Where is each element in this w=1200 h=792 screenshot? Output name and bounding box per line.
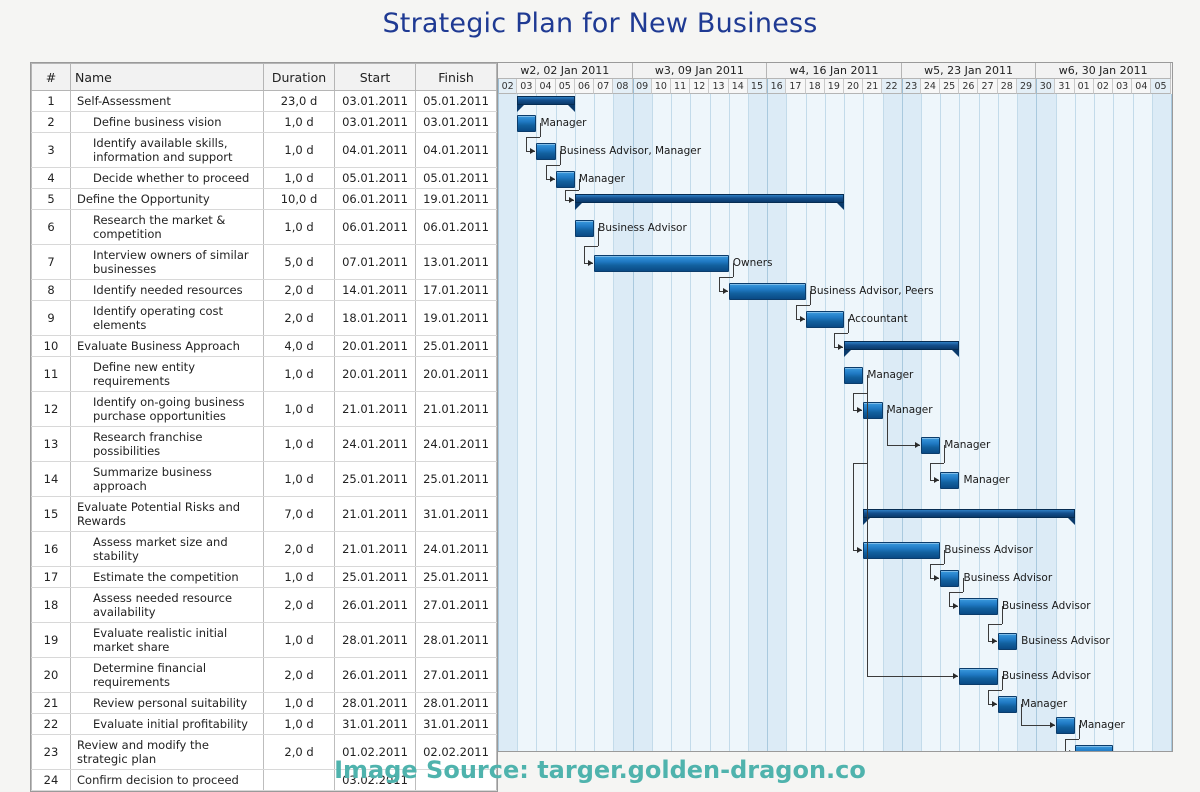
dependency-link xyxy=(526,137,540,138)
gantt-task-bar[interactable] xyxy=(575,220,594,237)
dependency-link xyxy=(949,592,963,593)
dependency-arrow-icon xyxy=(934,477,939,483)
row-number: 6 xyxy=(32,210,71,245)
summary-cap-left-icon xyxy=(844,350,851,357)
table-row[interactable]: 6Research the market & competition1,0 d0… xyxy=(32,210,497,245)
row-name: Decide whether to proceed xyxy=(71,168,264,189)
row-name: Review personal suitability xyxy=(71,693,264,714)
weekend-band xyxy=(1152,94,1171,752)
column-header-finish[interactable]: Finish xyxy=(416,64,497,91)
task-resource-label: Manager xyxy=(579,173,625,185)
dependency-link xyxy=(949,592,950,606)
week-header-cell: w3, 09 Jan 2011 xyxy=(633,63,768,79)
dependency-arrow-icon xyxy=(550,176,555,182)
row-start: 25.01.2011 xyxy=(335,567,416,588)
timeline-gridline xyxy=(1056,94,1057,752)
row-name: Define the Opportunity xyxy=(71,189,264,210)
row-start: 18.01.2011 xyxy=(335,301,416,336)
row-duration: 23,0 d xyxy=(264,91,335,112)
gantt-task-bar[interactable] xyxy=(1056,717,1075,734)
row-finish: 27.01.2011 xyxy=(416,588,497,623)
row-start: 31.01.2011 xyxy=(335,714,416,735)
day-header-cell: 13 xyxy=(709,79,728,94)
task-resource-label: Manager xyxy=(1079,719,1125,731)
dependency-link xyxy=(944,550,945,564)
gantt-task-bar[interactable] xyxy=(729,283,806,300)
dependency-link xyxy=(834,333,848,334)
row-duration: 1,0 d xyxy=(264,168,335,189)
task-resource-label: Business Advisor xyxy=(944,544,1033,556)
row-start: 21.01.2011 xyxy=(335,392,416,427)
dependency-arrow-icon xyxy=(857,547,862,553)
dependency-link xyxy=(719,277,720,291)
row-finish: 17.01.2011 xyxy=(416,280,497,301)
day-header-cell: 19 xyxy=(825,79,844,94)
row-number: 2 xyxy=(32,112,71,133)
task-resource-label: Business Advisor xyxy=(963,572,1052,584)
dependency-arrow-icon xyxy=(857,407,862,413)
row-number: 21 xyxy=(32,693,71,714)
weekend-band xyxy=(498,94,517,752)
gantt-task-bar[interactable] xyxy=(594,255,729,272)
day-header-cell: 04 xyxy=(1132,79,1151,94)
dependency-link xyxy=(733,263,734,277)
column-header-number[interactable]: # xyxy=(32,64,71,91)
day-header-cell: 06 xyxy=(575,79,594,94)
dependency-link xyxy=(887,410,888,445)
timeline-gridline xyxy=(729,94,730,752)
day-header-cell: 28 xyxy=(998,79,1017,94)
row-start: 24.01.2011 xyxy=(335,427,416,462)
dependency-link xyxy=(1079,725,1080,739)
row-number: 15 xyxy=(32,497,71,532)
day-header-cell: 26 xyxy=(959,79,978,94)
day-header-cell: 17 xyxy=(786,79,805,94)
dependency-link xyxy=(988,624,1002,625)
row-start: 06.01.2011 xyxy=(335,189,416,210)
dependency-link xyxy=(796,305,797,319)
dependency-link xyxy=(546,165,560,166)
row-number: 19 xyxy=(32,623,71,658)
timeline-gridline xyxy=(959,94,960,752)
timeline-gridline xyxy=(575,94,576,752)
row-start: 26.01.2011 xyxy=(335,588,416,623)
weekend-band xyxy=(613,94,632,752)
timeline-gridline xyxy=(844,94,845,752)
row-start: 26.01.2011 xyxy=(335,658,416,693)
summary-cap-right-icon xyxy=(952,350,959,357)
weekend-band xyxy=(767,94,786,752)
row-number: 9 xyxy=(32,301,71,336)
dependency-arrow-icon xyxy=(992,701,997,707)
row-name: Evaluate Business Approach xyxy=(71,336,264,357)
table-row[interactable]: 19Evaluate realistic initial market shar… xyxy=(32,623,497,658)
table-row[interactable]: 20Determine financial requirements2,0 d2… xyxy=(32,658,497,693)
row-duration: 1,0 d xyxy=(264,427,335,462)
timeline-gridline xyxy=(1094,94,1095,752)
dependency-link xyxy=(867,375,868,463)
row-finish: 05.01.2011 xyxy=(416,168,497,189)
day-header-cell: 29 xyxy=(1017,79,1036,94)
summary-cap-left-icon xyxy=(517,105,524,112)
dependency-arrow-icon xyxy=(800,316,805,322)
day-header-cell: 08 xyxy=(613,79,632,94)
row-duration: 1,0 d xyxy=(264,210,335,245)
timeline-gridline xyxy=(613,94,614,752)
dependency-link xyxy=(1002,676,1003,690)
dependency-link xyxy=(988,690,1002,691)
day-header-cell: 24 xyxy=(921,79,940,94)
row-finish: 13.01.2011 xyxy=(416,245,497,280)
summary-cap-left-icon xyxy=(575,203,582,210)
dependency-link xyxy=(560,151,561,165)
task-resource-label: Manager xyxy=(963,474,1009,486)
row-duration: 7,0 d xyxy=(264,497,335,532)
dependency-link xyxy=(598,228,599,246)
timeline-gridline xyxy=(863,94,864,752)
dependency-link xyxy=(1021,704,1022,725)
table-row[interactable]: 10Evaluate Business Approach4,0 d20.01.2… xyxy=(32,336,497,357)
summary-cap-right-icon xyxy=(1068,518,1075,525)
row-start: 20.01.2011 xyxy=(335,357,416,392)
timeline-gridline xyxy=(748,94,749,752)
row-finish: 28.01.2011 xyxy=(416,623,497,658)
row-duration: 4,0 d xyxy=(264,336,335,357)
weekend-band xyxy=(1017,94,1036,752)
day-header-cell: 30 xyxy=(1036,79,1055,94)
row-duration: 2,0 d xyxy=(264,301,335,336)
dependency-link xyxy=(867,676,958,677)
row-start: 03.01.2011 xyxy=(335,91,416,112)
gantt-task-bar[interactable] xyxy=(959,668,997,685)
table-row[interactable]: 21Review personal suitability1,0 d28.01.… xyxy=(32,693,497,714)
day-header-cell: 22 xyxy=(882,79,901,94)
gantt-summary-bar[interactable] xyxy=(863,509,1075,518)
row-duration: 5,0 d xyxy=(264,245,335,280)
row-name: Interview owners of similar businesses xyxy=(71,245,264,280)
dependency-link xyxy=(853,393,854,411)
row-duration: 1,0 d xyxy=(264,693,335,714)
row-start: 04.01.2011 xyxy=(335,133,416,168)
timeline-gridline xyxy=(671,94,672,752)
day-header-cell: 11 xyxy=(671,79,690,94)
day-header-cell: 15 xyxy=(748,79,767,94)
dependency-link xyxy=(930,564,931,578)
weekend-band xyxy=(883,94,902,752)
weekend-band xyxy=(1036,94,1055,752)
gantt-summary-bar[interactable] xyxy=(575,194,844,203)
day-header-cell: 01 xyxy=(1075,79,1094,94)
week-header-cell: w4, 16 Jan 2011 xyxy=(767,63,902,79)
row-start: 14.01.2011 xyxy=(335,280,416,301)
dependency-link xyxy=(526,137,527,151)
day-header-cell: 12 xyxy=(690,79,709,94)
day-header-cell: 16 xyxy=(767,79,786,94)
row-start: 25.01.2011 xyxy=(335,462,416,497)
row-name: Research the market & competition xyxy=(71,210,264,245)
row-finish: 06.01.2011 xyxy=(416,210,497,245)
dependency-arrow-icon xyxy=(934,575,939,581)
gantt-task-bar[interactable] xyxy=(998,696,1017,713)
row-start: 20.01.2011 xyxy=(335,336,416,357)
row-name: Define business vision xyxy=(71,112,264,133)
table-row[interactable]: 16Assess market size and stability2,0 d2… xyxy=(32,532,497,567)
day-header-cell: 02 xyxy=(498,79,517,94)
dependency-arrow-icon xyxy=(530,148,535,154)
timeline-gridline xyxy=(1075,94,1076,752)
row-number: 18 xyxy=(32,588,71,623)
row-name: Evaluate realistic initial market share xyxy=(71,623,264,658)
row-finish: 20.01.2011 xyxy=(416,357,497,392)
dependency-arrow-icon xyxy=(953,673,958,679)
task-table: # Name Duration Start Finish 1Self-Asses… xyxy=(30,62,498,792)
day-header-cell: 25 xyxy=(940,79,959,94)
dependency-link xyxy=(930,463,931,481)
gantt-task-bar[interactable] xyxy=(556,171,575,188)
gantt-task-bar[interactable] xyxy=(1075,745,1113,752)
timeline-gridline xyxy=(883,94,884,752)
gantt-task-bar[interactable] xyxy=(863,402,882,419)
column-header-name[interactable]: Name xyxy=(71,64,264,91)
weekend-band xyxy=(748,94,767,752)
row-name: Identify operating cost elements xyxy=(71,301,264,336)
day-header-cell: 03 xyxy=(517,79,536,94)
row-name: Self-Assessment xyxy=(71,91,264,112)
row-start: 21.01.2011 xyxy=(335,497,416,532)
gantt-task-bar[interactable] xyxy=(517,115,536,132)
dependency-link xyxy=(1065,739,1066,752)
day-header-cell: 21 xyxy=(863,79,882,94)
row-number: 17 xyxy=(32,567,71,588)
dependency-link xyxy=(853,393,867,394)
gantt-task-bar[interactable] xyxy=(863,542,940,559)
task-resource-label: Business Advisor xyxy=(1002,670,1091,682)
row-name: Identify available skills, information a… xyxy=(71,133,264,168)
dependency-link xyxy=(853,463,854,551)
gantt-task-bar[interactable] xyxy=(940,472,959,489)
timeline-gridline xyxy=(498,94,499,752)
row-number: 7 xyxy=(32,245,71,280)
table-row[interactable]: 17Estimate the competition1,0 d25.01.201… xyxy=(32,567,497,588)
row-number: 14 xyxy=(32,462,71,497)
column-header-start[interactable]: Start xyxy=(335,64,416,91)
day-header-cell: 02 xyxy=(1094,79,1113,94)
table-row[interactable]: 13Research franchise possibilities1,0 d2… xyxy=(32,427,497,462)
dependency-link xyxy=(584,246,598,247)
summary-cap-right-icon xyxy=(837,203,844,210)
row-name: Determine financial requirements xyxy=(71,658,264,693)
timeline-day-header: 0203040506070809101112131415161718192021… xyxy=(498,79,1172,94)
dependency-link xyxy=(565,190,579,191)
day-header-cell: 03 xyxy=(1113,79,1132,94)
dependency-arrow-icon xyxy=(588,260,593,266)
dependency-link xyxy=(540,123,541,137)
row-name: Evaluate initial profitability xyxy=(71,714,264,735)
table-row[interactable]: 8Identify needed resources2,0 d14.01.201… xyxy=(32,280,497,301)
column-header-duration[interactable]: Duration xyxy=(264,64,335,91)
row-duration: 1,0 d xyxy=(264,392,335,427)
task-resource-label: Manager xyxy=(887,404,933,416)
row-name: Summarize business approach xyxy=(71,462,264,497)
dependency-arrow-icon xyxy=(915,442,920,448)
row-duration: 10,0 d xyxy=(264,189,335,210)
weekend-band xyxy=(902,94,921,752)
gantt-task-bar[interactable] xyxy=(844,367,863,384)
row-start: 05.01.2011 xyxy=(335,168,416,189)
gantt-task-bar[interactable] xyxy=(998,633,1017,650)
task-resource-label: Owners xyxy=(733,257,773,269)
timeline-gridline xyxy=(1152,94,1153,752)
dependency-link xyxy=(579,179,580,190)
dependency-link xyxy=(963,578,964,592)
row-finish: 03.01.2011 xyxy=(416,112,497,133)
row-number: 8 xyxy=(32,280,71,301)
day-header-cell: 27 xyxy=(978,79,997,94)
table-row[interactable]: 22Evaluate initial profitability1,0 d31.… xyxy=(32,714,497,735)
task-resource-label: Business Advisor xyxy=(598,222,687,234)
timeline-gridline xyxy=(998,94,999,752)
table-row[interactable]: 18Assess needed resource availability2,0… xyxy=(32,588,497,623)
dependency-link xyxy=(848,319,849,333)
day-header-cell: 09 xyxy=(633,79,652,94)
timeline-gridline xyxy=(902,94,903,752)
timeline-gridline xyxy=(1036,94,1037,752)
row-number: 1 xyxy=(32,91,71,112)
image-source-footer: Image Source: targer.golden-dragon.co xyxy=(0,756,1200,784)
row-number: 4 xyxy=(32,168,71,189)
timeline-gridline xyxy=(556,94,557,752)
dependency-arrow-icon xyxy=(569,197,574,203)
timeline-gridline xyxy=(806,94,807,752)
table-row[interactable]: 15Evaluate Potential Risks and Rewards7,… xyxy=(32,497,497,532)
week-header-cell: w5, 23 Jan 2011 xyxy=(902,63,1037,79)
gantt-chart: # Name Duration Start Finish 1Self-Asses… xyxy=(30,62,1173,752)
row-finish: 25.01.2011 xyxy=(416,336,497,357)
dependency-arrow-icon xyxy=(723,288,728,294)
gantt-summary-bar[interactable] xyxy=(517,96,575,105)
row-start: 06.01.2011 xyxy=(335,210,416,245)
day-header-cell: 05 xyxy=(556,79,575,94)
timeline-gridline xyxy=(690,94,691,752)
row-finish: 21.01.2011 xyxy=(416,392,497,427)
dependency-link xyxy=(584,246,585,264)
timeline-gridline xyxy=(1113,94,1114,752)
table-row[interactable]: 3Identify available skills, information … xyxy=(32,133,497,168)
row-name: Identify on-going business purchase oppo… xyxy=(71,392,264,427)
table-row[interactable]: 11Define new entity requirements1,0 d20.… xyxy=(32,357,497,392)
table-row[interactable]: 5Define the Opportunity10,0 d06.01.20111… xyxy=(32,189,497,210)
gantt-timeline-pane[interactable]: w2, 02 Jan 2011w3, 09 Jan 2011w4, 16 Jan… xyxy=(498,62,1173,752)
dependency-link xyxy=(1002,606,1003,624)
timeline-gridline xyxy=(1171,94,1172,752)
timeline-gridline xyxy=(921,94,922,752)
timeline-gridline xyxy=(517,94,518,752)
task-resource-label: Manager xyxy=(944,439,990,451)
dependency-arrow-icon xyxy=(1050,722,1055,728)
row-number: 20 xyxy=(32,658,71,693)
gantt-task-bar[interactable] xyxy=(921,437,940,454)
row-number: 12 xyxy=(32,392,71,427)
table-row[interactable]: 7Interview owners of similar businesses5… xyxy=(32,245,497,280)
table-row[interactable]: 2Define business vision1,0 d03.01.201103… xyxy=(32,112,497,133)
timeline-gridline xyxy=(825,94,826,752)
table-row[interactable]: 4Decide whether to proceed1,0 d05.01.201… xyxy=(32,168,497,189)
timeline-gridline xyxy=(536,94,537,752)
dependency-link xyxy=(796,305,810,306)
row-number: 3 xyxy=(32,133,71,168)
row-start: 03.01.2011 xyxy=(335,112,416,133)
row-duration: 2,0 d xyxy=(264,588,335,623)
weekend-band xyxy=(633,94,652,752)
day-header-cell: 05 xyxy=(1151,79,1170,94)
timeline-gridline xyxy=(1133,94,1134,752)
row-duration: 1,0 d xyxy=(264,623,335,658)
timeline-gridline xyxy=(594,94,595,752)
timeline-gridline xyxy=(633,94,634,752)
day-header-cell: 04 xyxy=(536,79,555,94)
dependency-arrow-icon xyxy=(953,603,958,609)
row-number: 10 xyxy=(32,336,71,357)
dependency-arrow-icon xyxy=(992,638,997,644)
table-row[interactable]: 1Self-Assessment23,0 d03.01.201105.01.20… xyxy=(32,91,497,112)
row-duration: 1,0 d xyxy=(264,112,335,133)
row-duration: 2,0 d xyxy=(264,658,335,693)
row-duration: 1,0 d xyxy=(264,462,335,497)
row-start: 07.01.2011 xyxy=(335,245,416,280)
gantt-task-bar[interactable] xyxy=(940,570,959,587)
gantt-summary-bar[interactable] xyxy=(844,341,959,350)
row-duration: 2,0 d xyxy=(264,532,335,567)
row-start: 21.01.2011 xyxy=(335,532,416,567)
row-finish: 24.01.2011 xyxy=(416,427,497,462)
dependency-arrow-icon xyxy=(838,344,843,350)
table-row[interactable]: 9Identify operating cost elements2,0 d18… xyxy=(32,301,497,336)
row-start: 28.01.2011 xyxy=(335,623,416,658)
row-name: Research franchise possibilities xyxy=(71,427,264,462)
dependency-link xyxy=(930,463,944,464)
row-finish: 28.01.2011 xyxy=(416,693,497,714)
timeline-week-header: w2, 02 Jan 2011w3, 09 Jan 2011w4, 16 Jan… xyxy=(498,63,1172,79)
gantt-task-bar[interactable] xyxy=(959,598,997,615)
gantt-task-bar[interactable] xyxy=(806,311,844,328)
table-row[interactable]: 14Summarize business approach1,0 d25.01.… xyxy=(32,462,497,497)
timeline-gridline xyxy=(979,94,980,752)
timeline-gridline xyxy=(710,94,711,752)
gantt-task-bar[interactable] xyxy=(536,143,555,160)
table-row[interactable]: 12Identify on-going business purchase op… xyxy=(32,392,497,427)
row-finish: 05.01.2011 xyxy=(416,91,497,112)
task-resource-label: Manager xyxy=(540,117,586,129)
row-number: 22 xyxy=(32,714,71,735)
row-duration: 2,0 d xyxy=(264,280,335,301)
table-body: 1Self-Assessment23,0 d03.01.201105.01.20… xyxy=(32,91,497,791)
day-header-cell: 07 xyxy=(594,79,613,94)
dependency-link xyxy=(810,291,811,305)
page-title: Strategic Plan for New Business xyxy=(0,8,1200,39)
row-finish: 27.01.2011 xyxy=(416,658,497,693)
gantt-chart-page: Strategic Plan for New Business # Name D… xyxy=(0,0,1200,791)
row-finish: 25.01.2011 xyxy=(416,462,497,497)
task-resource-label: Manager xyxy=(1021,698,1067,710)
row-duration: 1,0 d xyxy=(264,567,335,588)
dependency-arrow-icon xyxy=(1069,750,1074,752)
timeline-gridline xyxy=(940,94,941,752)
gantt-plot-area[interactable]: ManagerBusiness Advisor, ManagerManagerB… xyxy=(498,94,1172,752)
row-name: Assess market size and stability xyxy=(71,532,264,567)
row-finish: 19.01.2011 xyxy=(416,301,497,336)
week-header-cell: w2, 02 Jan 2011 xyxy=(498,63,633,79)
row-finish: 24.01.2011 xyxy=(416,532,497,567)
